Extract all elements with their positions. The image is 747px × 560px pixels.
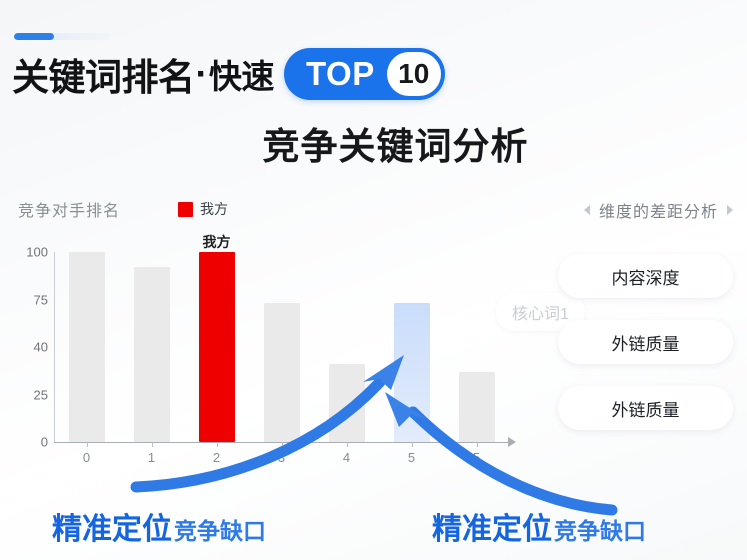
- x-axis-tick-label: 3: [278, 450, 285, 465]
- dimension-card-label: 内容深度: [612, 264, 680, 289]
- dimension-card-list: 内容深度外链质量外链质量: [558, 254, 733, 452]
- bottom-left-weak: 竞争缺口: [174, 512, 266, 546]
- legend-label-mine: 我方: [200, 199, 228, 219]
- x-axis-tick-mark: [152, 442, 153, 447]
- top-badge-label: TOP: [306, 55, 375, 93]
- y-axis-tick-label: 0: [14, 435, 48, 450]
- x-axis-tick-mark: [477, 442, 478, 447]
- x-axis-tick-mark: [217, 442, 218, 447]
- bar-chart: 1007540250 我方 0123455: [14, 250, 534, 465]
- bar-target: [394, 303, 430, 442]
- bar-competitor: [69, 252, 105, 442]
- x-axis-tick-label: 5: [473, 450, 480, 465]
- headline-separator: ·: [195, 53, 209, 95]
- dimension-card-label: 外链质量: [612, 330, 680, 355]
- top-badge-value: 10: [398, 58, 429, 90]
- bottom-right-strong: 精准定位: [432, 504, 552, 548]
- x-axis-tick-label: 2: [213, 450, 220, 465]
- triangle-right-icon: [727, 205, 733, 215]
- y-axis-tick-label: 75: [14, 292, 48, 307]
- poster-canvas: 关键词排名 · 快速 TOP 10 竞争关键词分析 竞争对手排名 我方 维度的差…: [0, 0, 747, 560]
- x-axis-tick-mark: [347, 442, 348, 447]
- bottom-right-weak: 竞争缺口: [554, 512, 646, 546]
- bar-mine: [199, 252, 235, 442]
- legend-swatch-mine: [178, 202, 193, 217]
- y-axis-tick-label: 100: [14, 245, 48, 260]
- bottom-left-strong: 精准定位: [52, 504, 172, 548]
- bar-competitor: [329, 364, 365, 442]
- y-axis-tick-label: 25: [14, 387, 48, 402]
- x-axis-tick-label: 0: [83, 450, 90, 465]
- bar-mine-label: 我方: [203, 232, 231, 252]
- bar-competitor: [459, 372, 495, 442]
- y-axis: 1007540250: [14, 250, 48, 442]
- x-axis-arrow-icon: [508, 437, 516, 447]
- bottom-caption-right: 精准定位 竞争缺口: [432, 504, 646, 548]
- x-axis-tick-mark: [412, 442, 413, 447]
- x-axis-tick-label: 5: [408, 450, 415, 465]
- x-axis-tick-mark: [282, 442, 283, 447]
- chart-caption: 竞争对手排名: [18, 197, 120, 221]
- x-axis-tick-label: 4: [343, 450, 350, 465]
- y-axis-tick-label: 40: [14, 340, 48, 355]
- headline-sub: 快速: [209, 50, 274, 98]
- dimension-card[interactable]: 外链质量: [558, 320, 733, 364]
- bar-competitor: [134, 267, 170, 442]
- headline-main: 关键词排名: [12, 47, 195, 101]
- triangle-left-icon: [584, 205, 590, 215]
- dimension-card[interactable]: 外链质量: [558, 386, 733, 430]
- x-axis-tick-label: 1: [148, 450, 155, 465]
- progress-bar: [14, 33, 110, 40]
- dimension-gap-label: 维度的差距分析: [599, 198, 718, 222]
- dimension-gap-caption: 维度的差距分析: [584, 198, 733, 222]
- dimension-card[interactable]: 内容深度: [558, 254, 733, 298]
- dimension-card-label: 外链质量: [612, 396, 680, 421]
- x-axis-tick-mark: [87, 442, 88, 447]
- top-badge-circle: 10: [387, 52, 441, 96]
- bar-series: 我方: [54, 252, 509, 442]
- page-title: 竞争关键词分析: [0, 116, 747, 170]
- x-axis: 0123455: [54, 442, 509, 466]
- chart-legend: 我方: [178, 199, 228, 219]
- headline: 关键词排名 · 快速: [12, 48, 274, 100]
- bar-competitor: [264, 303, 300, 442]
- progress-bar-fill: [14, 33, 54, 40]
- bottom-caption-left: 精准定位 竞争缺口: [52, 504, 266, 548]
- top-badge: TOP 10: [284, 48, 445, 100]
